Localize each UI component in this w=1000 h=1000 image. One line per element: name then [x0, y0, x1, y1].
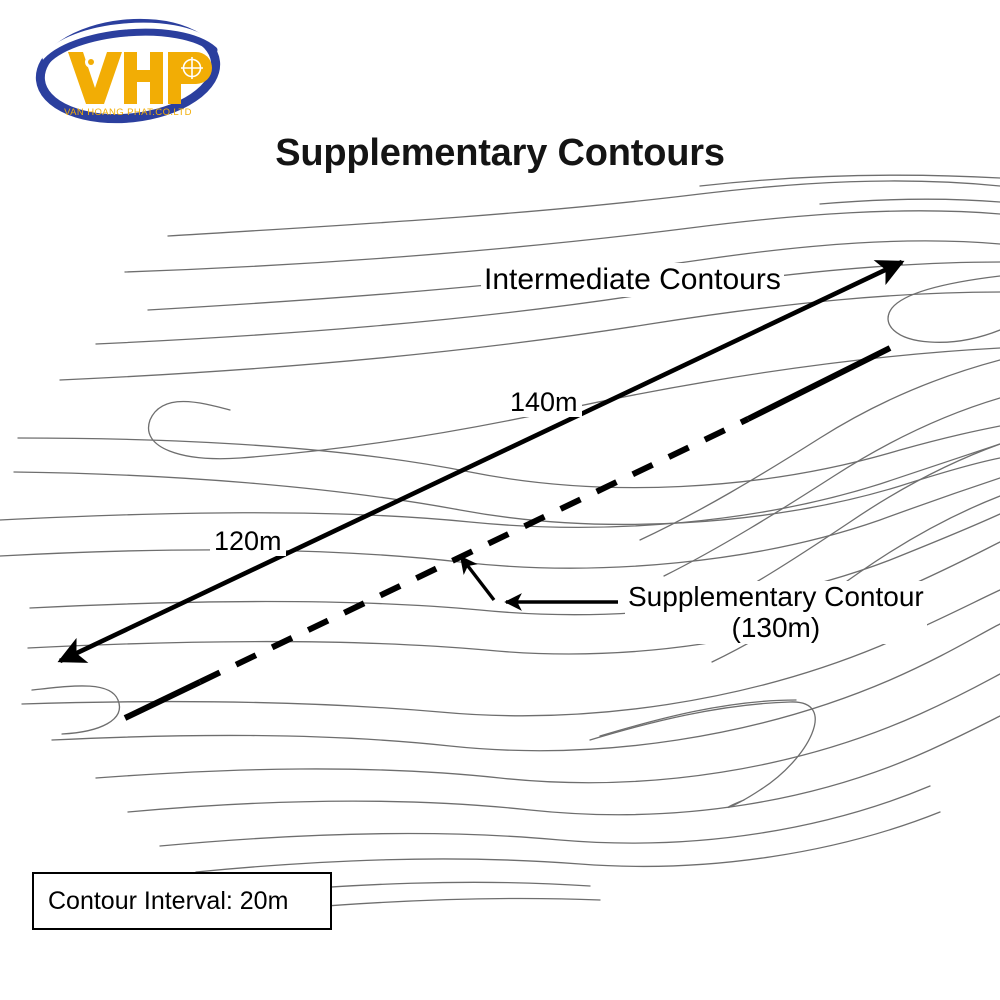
- label-intermediate-contours: Intermediate Contours: [481, 263, 784, 297]
- contour-diagram-page: VAN HOANG PHAT.CO.LTD Supplementary Cont…: [0, 0, 1000, 1000]
- label-elevation-120m: 120m: [210, 526, 286, 556]
- supplementary-label-line1: Supplementary Contour: [628, 581, 924, 612]
- label-supplementary-contour: Supplementary Contour (130m): [625, 581, 927, 644]
- legend-contour-interval: Contour Interval: 20m: [48, 887, 288, 916]
- legend-box: Contour Interval: 20m: [32, 872, 332, 930]
- supplementary-label-line2: (130m): [628, 612, 924, 643]
- contour-map-canvas: [0, 0, 1000, 1000]
- supplementary-leader-line: [461, 557, 618, 602]
- label-elevation-140m: 140m: [506, 387, 582, 417]
